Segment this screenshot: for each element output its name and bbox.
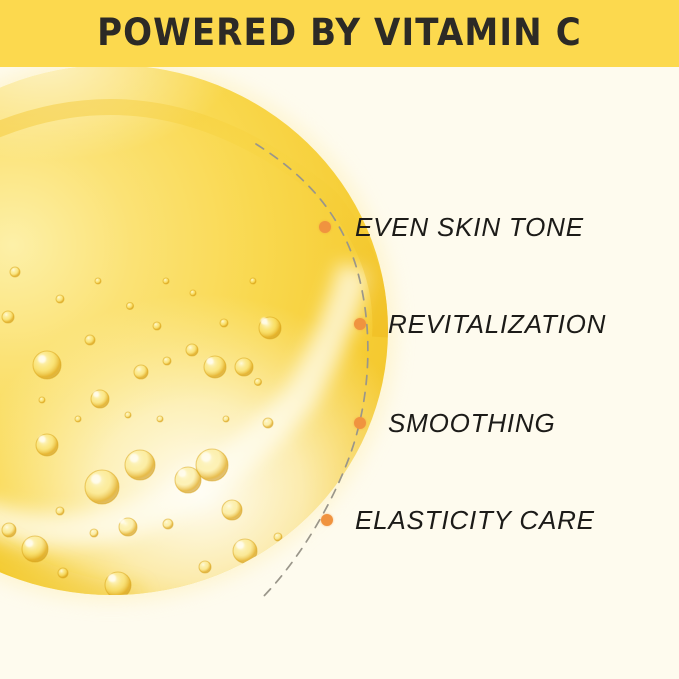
bullet-dot-even-skin-tone <box>319 221 331 233</box>
header-banner: POWERED BY VITAMIN C <box>0 0 679 67</box>
bullet-dot-smoothing <box>354 417 366 429</box>
benefit-label-revitalization: REVITALIZATION <box>388 311 606 337</box>
serum-droplet-illustration <box>0 67 679 679</box>
bullet-dot-revitalization <box>354 318 366 330</box>
benefit-label-smoothing: SMOOTHING <box>388 410 556 436</box>
vitamin-c-promo-poster: POWERED BY VITAMIN C <box>0 0 679 679</box>
benefit-label-elasticity-care: ELASTICITY CARE <box>355 507 595 533</box>
serum-droplet-image <box>0 67 679 679</box>
benefit-label-even-skin-tone: EVEN SKIN TONE <box>355 214 584 240</box>
bullet-dot-elasticity-care <box>321 514 333 526</box>
page-title: POWERED BY VITAMIN C <box>97 14 582 53</box>
